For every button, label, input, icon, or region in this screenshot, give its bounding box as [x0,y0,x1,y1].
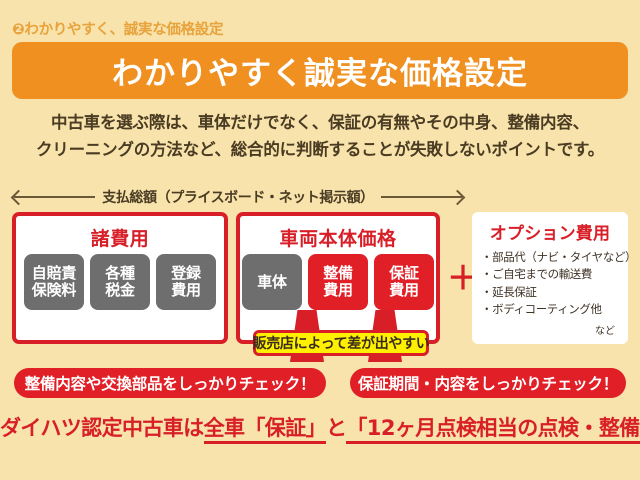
callout-dealer-variance: 販売店によって差が出やすい [253,330,429,356]
chip-line: 税金 [105,282,135,299]
chip-line: 費用 [171,282,201,299]
group-title-vehicle-price: 車両本体価格 [240,224,436,251]
list-item: ・ボディコーティング他 [481,301,619,318]
tagline-underline-warranty: 全車「保証」 [204,416,326,444]
check-banner-warranty: 保証期間・内容をしっかりチェック！ [350,368,626,398]
group-title-options: オプション費用 [481,219,619,244]
tagline-part-2: と [326,416,346,440]
title-banner-text: わかりやすく誠実な価格設定 [112,48,528,93]
lede-line-1: 中古車を選ぶ際は、車体だけでなく、保証の有無やその中身、整備内容、 [0,110,640,137]
chip-row-misc-fees: 自賠責 保険料 各種 税金 登録 費用 [16,254,224,310]
arrow-right-icon [381,196,462,198]
chip-maintenance-fee: 整備 費用 [308,254,368,310]
tagline-underline-inspection: 「12ヶ月点検相当の点検・整備」 [346,416,640,444]
price-breakdown-diagram: 諸費用 自賠責 保険料 各種 税金 登録 費用 車両本体価格 [0,206,640,366]
chip-line: 登録 [171,265,201,282]
chip-line: 費用 [323,282,353,299]
tagline-part-1: ダイハツ認定中古車は [0,416,204,440]
kicker-number: ❷ [12,20,24,38]
group-box-misc-fees: 諸費用 自賠責 保険料 各種 税金 登録 費用 [12,212,228,344]
list-item: ・部品代（ナビ・タイヤなど） [481,249,619,266]
group-title-misc-fees: 諸費用 [16,224,224,251]
arrow-left-icon [14,196,95,198]
chip-line: 各種 [105,265,135,282]
chip-row-vehicle-price: 車体 整備 費用 保証 費用 [240,254,436,310]
chip-line: 車体 [257,274,287,291]
infographic-page: ❷わかりやすく、誠実な価格設定 わかりやすく誠実な価格設定 中古車を選ぶ際は、車… [0,0,640,480]
list-item: ・ご自宅までの輸送費 [481,266,619,283]
check-banner-maintenance: 整備内容や交換部品をしっかりチェック！ [14,368,326,398]
chip-warranty-fee: 保証 費用 [374,254,434,310]
lede-line-2: クリーニングの方法など、総合的に判断することが失敗しないポイントです。 [0,137,640,164]
list-item: ・延長保証 [481,284,619,301]
kicker-label: わかりやすく、誠実な価格設定 [24,22,223,38]
plus-icon: ＋ [447,268,469,290]
total-payment-label: 支払総額（プライスボード・ネット掲示額） [102,187,374,207]
lede-paragraph: 中古車を選ぶ際は、車体だけでなく、保証の有無やその中身、整備内容、 クリーニング… [0,110,640,163]
chip-line: 保証 [389,265,419,282]
options-suffix: など [481,322,619,337]
chip-compulsory-insurance: 自賠責 保険料 [24,254,84,310]
chip-line: 費用 [389,282,419,299]
chip-taxes: 各種 税金 [90,254,150,310]
chip-registration-fee: 登録 費用 [156,254,216,310]
title-banner: わかりやすく誠実な価格設定 [12,42,628,99]
bottom-tagline: ダイハツ認定中古車は全車「保証」と「12ヶ月点検相当の点検・整備」付き [0,412,640,442]
chip-vehicle-body: 車体 [242,254,302,310]
chip-line: 整備 [323,265,353,282]
group-box-vehicle-price: 車両本体価格 車体 整備 費用 保証 費用 [236,212,440,344]
options-list: ・部品代（ナビ・タイヤなど） ・ご自宅までの輸送費 ・延長保証 ・ボディコーティ… [481,249,619,319]
total-payment-arrow: 支払総額（プライスボード・ネット掲示額） [14,186,462,208]
chip-line: 自賠責 [32,265,76,282]
group-box-options: オプション費用 ・部品代（ナビ・タイヤなど） ・ご自宅までの輸送費 ・延長保証 … [472,212,628,344]
chip-line: 保険料 [32,282,76,299]
section-kicker: ❷わかりやすく、誠実な価格設定 [12,18,223,39]
